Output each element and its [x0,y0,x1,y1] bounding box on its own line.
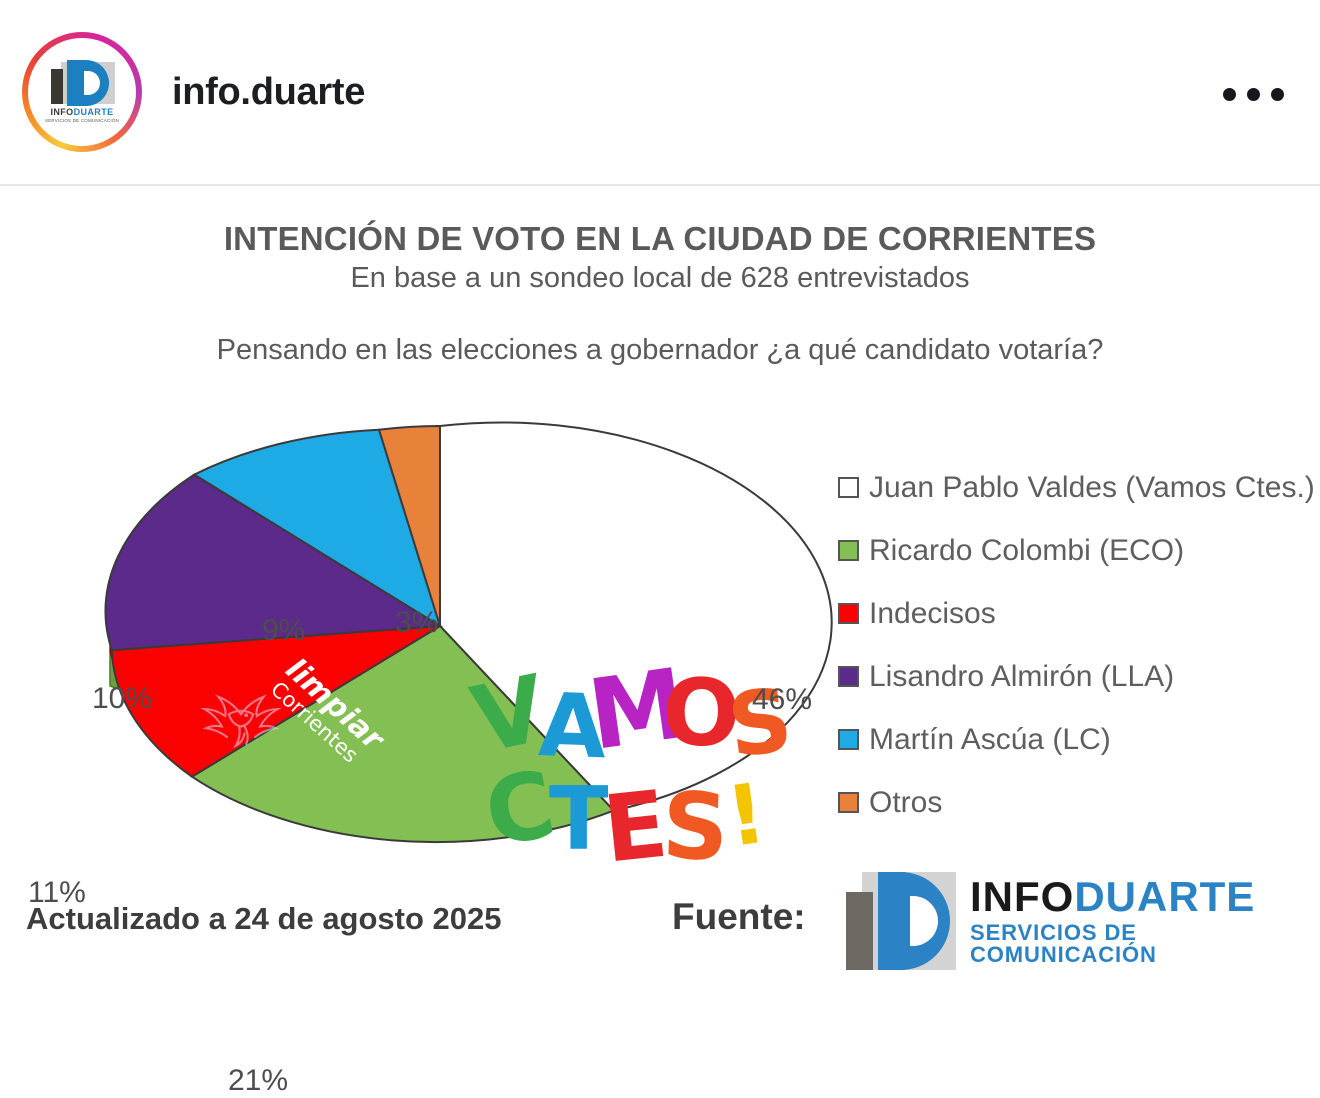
id-monogram-icon [45,60,119,106]
more-options-icon[interactable] [1223,88,1284,101]
legend-label-valdes: Juan Pablo Valdes (Vamos Ctes.) [869,471,1315,505]
pie-top-face [105,422,831,842]
poll-question: Pensando en las elecciones a gobernador … [0,334,1320,367]
legend-label-colombi: Ricardo Colombi (ECO) [869,534,1184,568]
legend-swatch-otros [838,792,859,813]
legend-swatch-almiron [838,666,859,687]
avatar-brand-tagline: SERVICIOS DE COMUNICACIÓN [45,119,119,124]
avatar[interactable]: INFODUARTE SERVICIOS DE COMUNICACIÓN [22,32,142,152]
pie-chart-svg [0,386,880,946]
legend-item-otros[interactable]: Otros [838,771,1318,834]
infoduarte-logo-footer: INFODUARTE SERVICIOS DE COMUNICACIÓN [838,872,1320,970]
account-username[interactable]: info.duarte [172,71,365,114]
pct-label-valdes: 46% [752,683,812,717]
pct-label-ascua: 9% [262,614,305,648]
legend-swatch-valdes [838,477,859,498]
legend-label-ascua: Martín Ascúa (LC) [869,723,1111,757]
legend-swatch-colombi [838,540,859,561]
legend-item-valdes[interactable]: Juan Pablo Valdes (Vamos Ctes.) [838,456,1318,519]
avatar-image: INFODUARTE SERVICIOS DE COMUNICACIÓN [28,38,136,146]
legend-item-ascua[interactable]: Martín Ascúa (LC) [838,708,1318,771]
legend-item-indecisos[interactable]: Indecisos [838,582,1318,645]
legend-label-almiron: Lisandro Almirón (LLA) [869,660,1174,694]
poll-infographic: INTENCIÓN DE VOTO EN LA CIUDAD DE CORRIE… [0,186,1320,998]
footer-brand-tagline: SERVICIOS DE COMUNICACIÓN [970,922,1320,966]
footer-brand-name: INFODUARTE [970,876,1320,918]
updated-date: Actualizado a 24 de agosto 2025 [26,901,502,937]
pie-chart: VAMOS CTES! eco ? limpiar Corrientes 46%… [0,386,880,946]
legend-label-indecisos: Indecisos [869,597,996,631]
pct-label-almiron: 10% [92,682,152,716]
pct-label-colombi: 21% [228,1064,288,1098]
legend-label-otros: Otros [869,786,942,820]
page-subtitle: En base a un sondeo local de 628 entrevi… [0,262,1320,295]
infoduarte-logo-small: INFODUARTE SERVICIOS DE COMUNICACIÓN [40,56,124,128]
pct-label-otros: 3% [395,606,438,640]
chart-legend: Juan Pablo Valdes (Vamos Ctes.) Ricardo … [838,456,1318,834]
id-monogram-icon-footer [838,872,956,970]
legend-swatch-ascua [838,729,859,750]
legend-item-almiron[interactable]: Lisandro Almirón (LLA) [838,645,1318,708]
page-title: INTENCIÓN DE VOTO EN LA CIUDAD DE CORRIE… [0,220,1320,258]
legend-swatch-indecisos [838,603,859,624]
legend-item-colombi[interactable]: Ricardo Colombi (ECO) [838,519,1318,582]
instagram-post-header: INFODUARTE SERVICIOS DE COMUNICACIÓN inf… [0,0,1320,186]
avatar-brand-name: INFODUARTE [50,108,113,117]
source-label: Fuente: [672,896,806,938]
